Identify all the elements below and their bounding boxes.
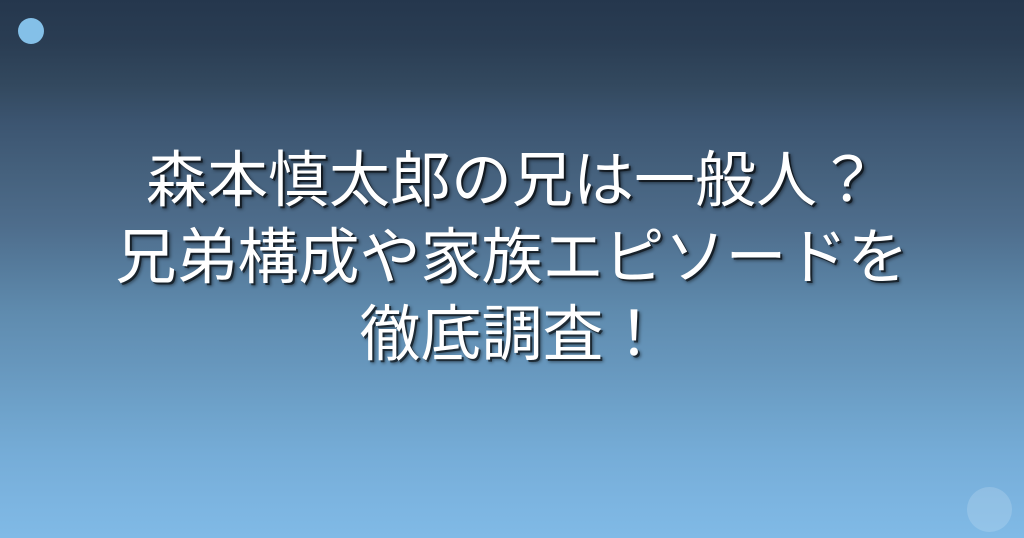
headline-block: 森本慎太郎の兄は一般人？ 兄弟構成や家族エピソードを 徹底調査！	[0, 0, 1024, 538]
title-card-canvas: 森本慎太郎の兄は一般人？ 兄弟構成や家族エピソードを 徹底調査！	[0, 0, 1024, 538]
headline-line-1: 森本慎太郎の兄は一般人？	[40, 142, 984, 219]
headline-line-2: 兄弟構成や家族エピソードを	[40, 219, 984, 296]
headline-inner: 森本慎太郎の兄は一般人？ 兄弟構成や家族エピソードを 徹底調査！	[40, 142, 984, 373]
headline-line-3: 徹底調査！	[40, 296, 984, 373]
